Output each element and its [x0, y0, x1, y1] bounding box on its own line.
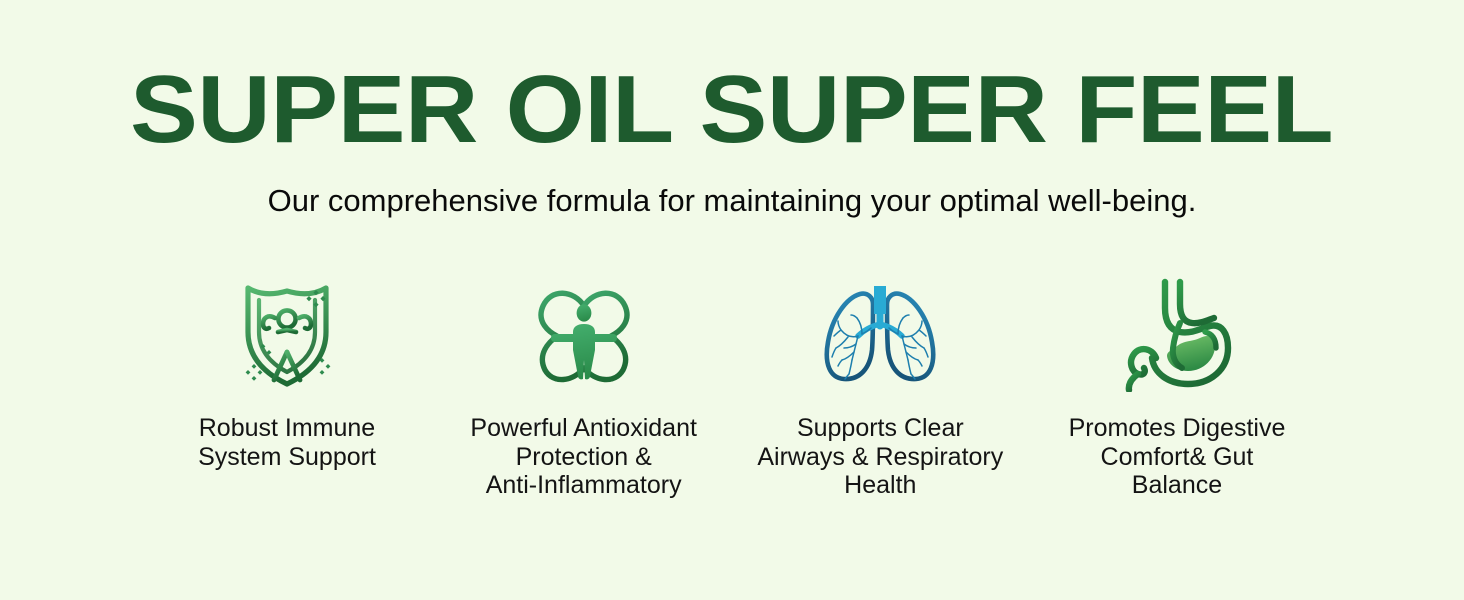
benefit-caption-antioxidant: Powerful Antioxidant Protection & Anti-I…	[470, 414, 697, 500]
benefit-item-immune: Robust Immune System Support	[142, 274, 432, 471]
page-subtitle: Our comprehensive formula for maintainin…	[268, 158, 1197, 218]
page-title: SUPER OIL SUPER FEEL	[130, 0, 1333, 158]
promo-banner: SUPER OIL SUPER FEEL Our comprehensive f…	[0, 0, 1464, 600]
benefit-caption-immune: Robust Immune System Support	[198, 414, 376, 471]
benefit-caption-digestive: Promotes Digestive Comfort& Gut Balance	[1069, 414, 1286, 500]
antioxidant-butterfly-person-icon	[509, 274, 659, 392]
benefit-item-digestive: Promotes Digestive Comfort& Gut Balance	[1032, 274, 1322, 500]
benefits-row: Robust Immune System Support	[142, 274, 1322, 500]
benefit-caption-respiratory: Supports Clear Airways & Respiratory Hea…	[757, 414, 1003, 500]
lungs-icon	[805, 274, 955, 392]
benefit-item-antioxidant: Powerful Antioxidant Protection & Anti-I…	[439, 274, 729, 500]
benefit-item-respiratory: Supports Clear Airways & Respiratory Hea…	[735, 274, 1025, 500]
shield-person-icon	[212, 274, 362, 392]
stomach-digestive-icon	[1102, 274, 1252, 392]
